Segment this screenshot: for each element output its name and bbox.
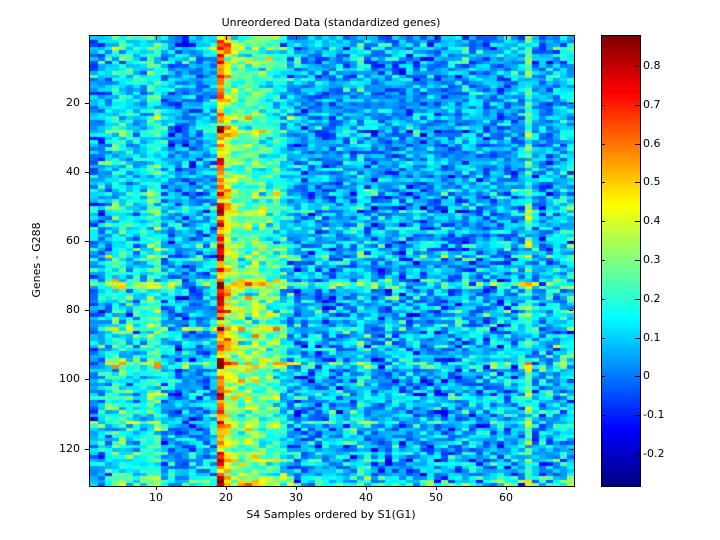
colorbar-tick-label: 0	[643, 370, 650, 382]
colorbar-tick-label: 0.1	[643, 332, 661, 344]
colorbar-tick-mark-right	[635, 299, 640, 300]
y-tick-label: 40	[40, 166, 80, 178]
x-tick-mark	[506, 486, 507, 490]
figure-canvas: Unreordered Data (standardized genes) S4…	[0, 0, 720, 540]
colorbar-tick-label: 0.2	[643, 293, 661, 305]
y-tick-label: 100	[40, 373, 80, 385]
colorbar-tick-mark-right	[635, 376, 640, 377]
colorbar-tick-mark	[601, 299, 605, 300]
colorbar-tick-label: 0.3	[643, 254, 661, 266]
y-tick-label: 20	[40, 97, 80, 109]
colorbar-tick-label: 0.8	[643, 60, 661, 72]
y-tick-mark	[85, 103, 89, 104]
colorbar-tick-mark	[601, 376, 605, 377]
colorbar-tick-label: 0.6	[643, 138, 661, 150]
x-tick-label: 20	[206, 492, 246, 504]
x-tick-mark	[366, 486, 367, 490]
x-tick-mark	[156, 486, 157, 490]
heatmap-image[interactable]	[90, 36, 574, 486]
x-axis-label: S4 Samples ordered by S1(G1)	[89, 508, 573, 521]
colorbar-tick-mark	[601, 415, 605, 416]
x-tick-mark-top	[296, 36, 297, 40]
colorbar-tick-mark	[601, 182, 605, 183]
colorbar-tick-mark	[601, 338, 605, 339]
y-axis-label: Genes - G288	[30, 160, 43, 360]
colorbar-tick-mark	[601, 260, 605, 261]
x-tick-label: 40	[346, 492, 386, 504]
colorbar-tick-label: 0.5	[643, 176, 661, 188]
colorbar-tick-mark-right	[635, 221, 640, 222]
colorbar-tick-mark-right	[635, 105, 640, 106]
colorbar-tick-mark-right	[635, 66, 640, 67]
colorbar-tick-mark	[601, 105, 605, 106]
x-tick-mark	[226, 486, 227, 490]
colorbar-tick-mark-right	[635, 338, 640, 339]
colorbar-tick-label: -0.1	[643, 409, 664, 421]
y-tick-mark	[85, 241, 89, 242]
x-tick-label: 10	[136, 492, 176, 504]
colorbar[interactable]	[601, 35, 641, 487]
y-tick-mark-right	[569, 310, 573, 311]
x-tick-mark	[436, 486, 437, 490]
x-tick-mark-top	[506, 36, 507, 40]
heatmap-axes[interactable]	[89, 35, 575, 487]
x-tick-mark-top	[226, 36, 227, 40]
colorbar-tick-label: 0.4	[643, 215, 661, 227]
colorbar-tick-mark	[601, 454, 605, 455]
colorbar-tick-label: -0.2	[643, 448, 664, 460]
page-title: Unreordered Data (standardized genes)	[89, 16, 573, 30]
x-tick-label: 30	[276, 492, 316, 504]
y-tick-mark-right	[569, 172, 573, 173]
colorbar-tick-label: 0.7	[643, 99, 661, 111]
y-tick-mark	[85, 379, 89, 380]
y-tick-mark-right	[569, 449, 573, 450]
y-tick-label: 60	[40, 235, 80, 247]
x-tick-mark-top	[366, 36, 367, 40]
y-tick-mark-right	[569, 379, 573, 380]
y-tick-label: 80	[40, 304, 80, 316]
colorbar-tick-mark-right	[635, 182, 640, 183]
y-tick-mark-right	[569, 241, 573, 242]
y-tick-mark	[85, 310, 89, 311]
colorbar-tick-mark-right	[635, 415, 640, 416]
x-tick-mark	[296, 486, 297, 490]
colorbar-tick-mark-right	[635, 260, 640, 261]
y-tick-mark	[85, 449, 89, 450]
colorbar-tick-mark	[601, 221, 605, 222]
colorbar-tick-mark-right	[635, 144, 640, 145]
colorbar-tick-mark-right	[635, 454, 640, 455]
y-tick-mark	[85, 172, 89, 173]
x-tick-label: 50	[416, 492, 456, 504]
colorbar-tick-mark	[601, 144, 605, 145]
colorbar-gradient[interactable]	[602, 36, 640, 486]
y-tick-label: 120	[40, 443, 80, 455]
colorbar-tick-mark	[601, 66, 605, 67]
x-tick-label: 60	[486, 492, 526, 504]
y-tick-mark-right	[569, 103, 573, 104]
x-tick-mark-top	[156, 36, 157, 40]
x-tick-mark-top	[436, 36, 437, 40]
